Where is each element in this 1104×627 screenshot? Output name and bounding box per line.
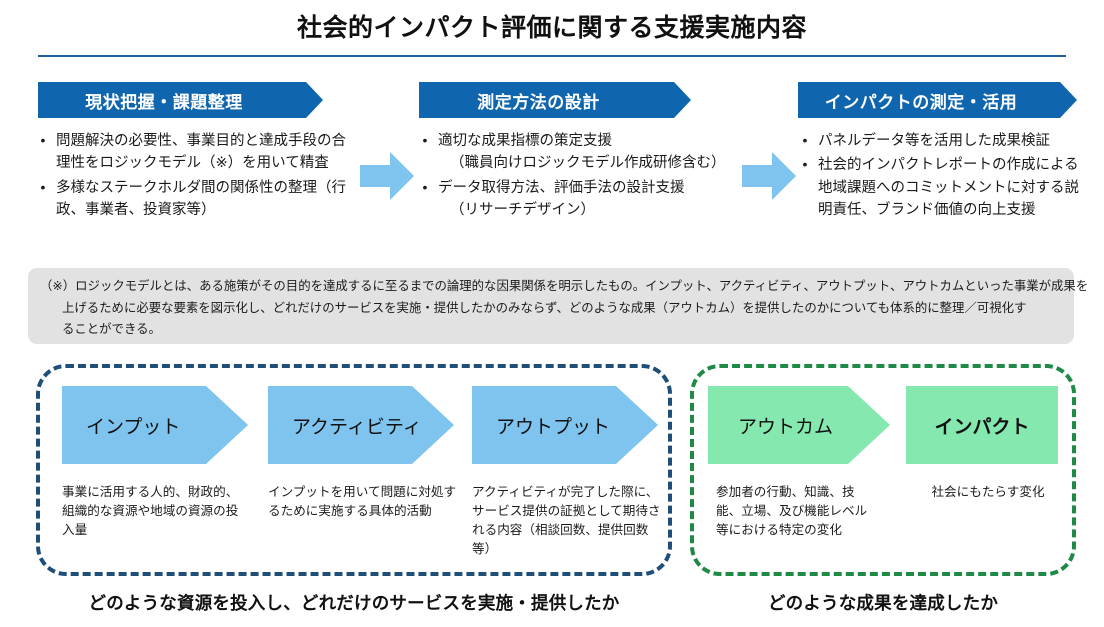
arrow-right-icon [742, 150, 796, 202]
footnote-line: ることができる。 [40, 319, 1060, 341]
bullet-main: データ取得方法、評価手法の設計支援 [438, 180, 685, 196]
logic-block-title: インパクト [906, 412, 1058, 439]
logic-block-outcome: アウトカム [708, 386, 890, 464]
bullet-dot-icon: • [792, 130, 818, 152]
logic-block-description: 事業に活用する人的、財政的、組織的な資源や地域の資源の投入量 [62, 483, 248, 540]
bullet-dot-icon: • [30, 130, 56, 152]
bullet-text: 問題解決の必要性、事業目的と達成手段の合理性をロジックモデル（※）を用いて精査 [56, 130, 360, 175]
footnote-line: （※）ロジックモデルとは、ある施策がその目的を達成するに至るまでの論理的な因果関… [40, 276, 1060, 298]
logic-block-description: インプットを用いて問題に対処するために実施する具体的活動 [268, 483, 458, 521]
bullet-item: • 適切な成果指標の策定支援 （職員向けロジックモデル作成研修含む） [412, 130, 752, 175]
stage-body-impact-measurement: • パネルデータ等を活用した成果検証 • 社会的インパクトレポートの作成による地… [792, 130, 1092, 224]
logic-block-input: インプット [62, 386, 248, 464]
stage-body-current-status: • 問題解決の必要性、事業目的と達成手段の合理性をロジックモデル（※）を用いて精… [30, 130, 360, 224]
footnote-box: （※）ロジックモデルとは、ある施策がその目的を達成するに至るまでの論理的な因果関… [28, 268, 1074, 344]
bullet-dot-icon: • [30, 177, 56, 199]
bullet-sub: （リサーチデザイン） [438, 199, 752, 221]
bullet-text: パネルデータ等を活用した成果検証 [818, 130, 1092, 152]
stage-banner-label: 測定方法の設計 [477, 88, 616, 113]
bullet-text: 多様なステークホルダ間の関係性の整理（行政、事業者、投資家等） [56, 177, 360, 222]
logic-block-description: 参加者の行動、知識、技能、立場、及び機能レベル等における特定の変化 [716, 483, 876, 540]
logic-block-impact: インパクト [906, 386, 1058, 464]
bullet-item: • 多様なステークホルダ間の関係性の整理（行政、事業者、投資家等） [30, 177, 360, 222]
page-title: 社会的インパクト評価に関する支援実施内容 [0, 8, 1104, 44]
group-caption-outcomes: どのような成果を達成したか [690, 590, 1076, 615]
arrow-right-icon [360, 150, 414, 202]
logic-block-description: 社会にもたらす変化 [908, 483, 1068, 502]
logic-block-activity: アクティビティ [268, 386, 454, 464]
group-caption-outputs: どのような資源を投入し、どれだけのサービスを実施・提供したか [36, 590, 672, 615]
bullet-dot-icon: • [412, 130, 438, 152]
stage-banner-current-status: 現状把握・課題整理 [38, 82, 306, 118]
logic-block-description: アクティビティが完了した際に、サービス提供の証拠として期待される内容（相談回数、… [472, 483, 662, 559]
bullet-text: 適切な成果指標の策定支援 （職員向けロジックモデル作成研修含む） [438, 130, 752, 175]
bullet-item: • データ取得方法、評価手法の設計支援 （リサーチデザイン） [412, 177, 752, 222]
bullet-item: • 問題解決の必要性、事業目的と達成手段の合理性をロジックモデル（※）を用いて精… [30, 130, 360, 175]
bullet-main: 適切な成果指標の策定支援 [438, 133, 612, 149]
bullet-item: • 社会的インパクトレポートの作成による地域課題へのコミットメントに対する説明責… [792, 154, 1092, 221]
logic-block-title: インプット [62, 412, 180, 439]
logic-block-title: アウトプット [472, 412, 610, 439]
stage-body-measurement-design: • 適切な成果指標の策定支援 （職員向けロジックモデル作成研修含む） • データ… [412, 130, 752, 224]
logic-block-title: アウトカム [708, 412, 833, 439]
bullet-text: 社会的インパクトレポートの作成による地域課題へのコミットメントに対する説明責任、… [818, 154, 1092, 221]
bullet-text: データ取得方法、評価手法の設計支援 （リサーチデザイン） [438, 177, 752, 222]
logic-block-title: アクティビティ [268, 412, 422, 439]
footnote-line: 上げるために必要な要素を図示化し、どれだけのサービスを実施・提供したかのみならず… [40, 298, 1060, 320]
stage-banner-measurement-design: 測定方法の設計 [419, 82, 674, 118]
bullet-dot-icon: • [412, 177, 438, 199]
stage-banner-label: インパクトの測定・活用 [825, 88, 1034, 113]
bullet-sub: （職員向けロジックモデル作成研修含む） [438, 152, 752, 174]
bullet-item: • パネルデータ等を活用した成果検証 [792, 130, 1092, 152]
title-divider [38, 55, 1066, 57]
logic-block-output: アウトプット [472, 386, 658, 464]
stage-banner-label: 現状把握・課題整理 [85, 88, 259, 113]
stage-banner-impact-measurement: インパクトの測定・活用 [798, 82, 1060, 118]
